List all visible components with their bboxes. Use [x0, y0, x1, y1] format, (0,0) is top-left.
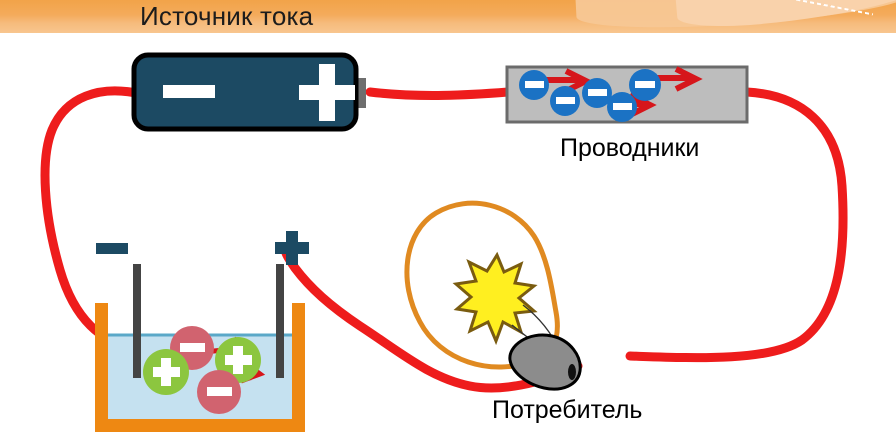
electrolytic-cell	[95, 231, 309, 432]
electron-minus-symbol-icon	[588, 89, 607, 96]
negative-ion-minus-symbol-icon	[207, 387, 232, 396]
battery	[134, 55, 366, 129]
wire-battery-to-cell-negative	[45, 91, 136, 346]
electron	[550, 86, 580, 116]
conductor-box	[507, 67, 747, 122]
ion-negative	[197, 370, 241, 414]
label-consumer: Потребитель	[492, 396, 642, 425]
electron	[629, 69, 661, 101]
lamp-socket-contact	[568, 364, 576, 380]
cell-negative-terminal-label-icon	[96, 243, 128, 254]
electron-minus-symbol-icon	[556, 97, 575, 104]
cell-electrode-negative	[133, 264, 141, 378]
battery-minus-symbol-icon	[163, 85, 215, 98]
circuit-diagram-artwork	[0, 0, 896, 440]
diagram-canvas: Источник тока	[0, 0, 896, 440]
wire-battery-to-conductor	[370, 92, 508, 95]
electron-minus-symbol-icon	[525, 81, 544, 88]
electron-minus-symbol-icon	[635, 81, 655, 88]
wire-conductor-to-lamp	[630, 92, 843, 358]
label-conductors: Проводники	[560, 134, 699, 163]
lamp-flash-icon	[456, 255, 534, 341]
lamp	[407, 203, 580, 389]
cell-electrode-positive	[276, 264, 284, 378]
cell-positive-terminal-label-icon	[275, 231, 309, 265]
electron	[519, 70, 549, 100]
electron	[607, 92, 637, 122]
electron-minus-symbol-icon	[613, 103, 632, 110]
negative-ion-minus-symbol-icon	[180, 343, 205, 352]
ion-positive	[143, 349, 189, 395]
